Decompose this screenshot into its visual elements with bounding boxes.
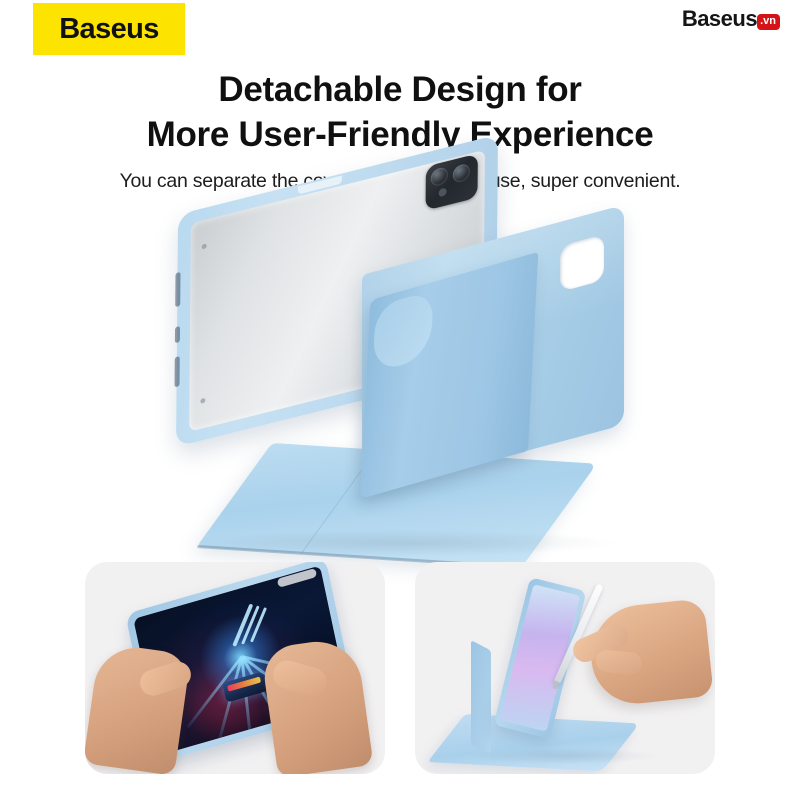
thumb (595, 649, 643, 676)
drawing-hand (586, 598, 714, 708)
product-marketing-page: Baseus Baseus .vn Detachable Design for … (0, 0, 800, 800)
hero-ground-shadow (194, 530, 614, 556)
volume-button-cutout (175, 272, 180, 307)
baseus-wordmark-text: Baseus (682, 8, 757, 30)
port-cutout (175, 326, 180, 343)
right-thumb (270, 657, 330, 699)
left-thumb (137, 658, 194, 699)
detachable-stand-cover (272, 275, 624, 547)
baseus-logo-badge: Baseus (33, 3, 185, 55)
headline-line-2: More User-Friendly Experience (0, 113, 800, 158)
right-hand (260, 636, 373, 774)
headline-line-1: Detachable Design for (0, 68, 800, 113)
feature-cards (0, 562, 800, 788)
camera-lens-icon (453, 163, 470, 184)
card-stylus-drawing-on-stand (415, 562, 715, 774)
camera-lens-icon (431, 166, 448, 187)
card-ground-shadow (470, 748, 660, 764)
stand-support-leg (471, 640, 491, 755)
magnetic-flap-tab (372, 290, 433, 374)
hero-stage (150, 205, 670, 550)
baseus-logo-text: Baseus (59, 15, 159, 44)
left-hand (85, 642, 191, 774)
page-title: Detachable Design for More User-Friendly… (0, 68, 800, 158)
camera-cutout (560, 234, 604, 292)
camera-flash-icon (439, 187, 447, 197)
baseus-vn-wordmark: Baseus .vn (682, 8, 782, 30)
vn-domain-badge: .vn (757, 14, 780, 30)
speaker-cutout (175, 356, 180, 387)
card-holding-tablet-gaming (85, 562, 385, 774)
tablet-on-stand (493, 577, 586, 739)
hero-product-image (150, 205, 670, 550)
